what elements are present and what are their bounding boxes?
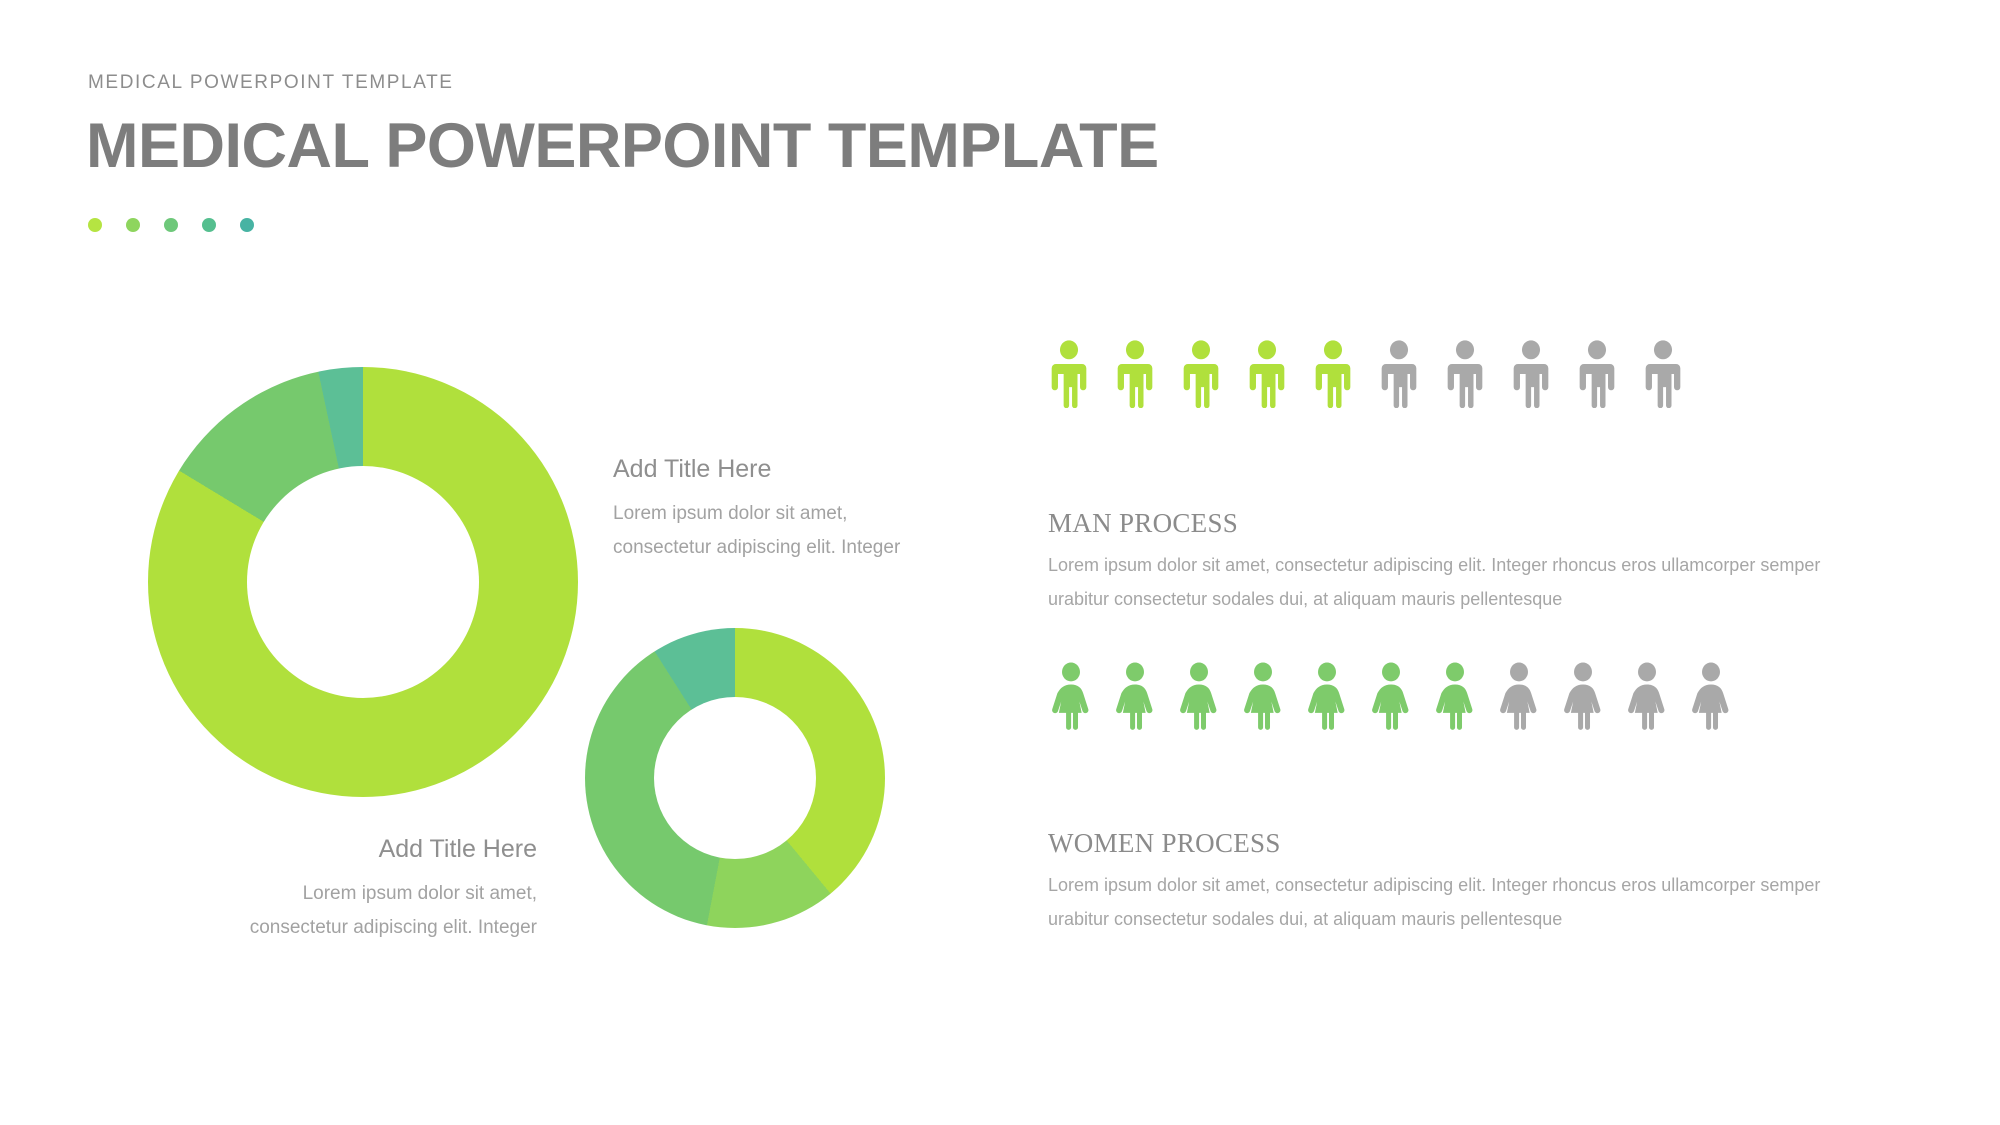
women-process-heading: WOMEN PROCESS [1048,828,1838,859]
callout-line-1: Lorem ipsum dolor sit amet, [613,497,900,531]
woman-pictogram-row [1048,662,1734,735]
slide-canvas: MEDICAL POWERPOINT TEMPLATE MEDICAL POWE… [0,0,2000,1125]
man-figure-icon [1642,340,1684,413]
man-process-section: MAN PROCESS Lorem ipsum dolor sit amet, … [1048,508,1838,616]
decorative-dot-5 [240,218,254,232]
decorative-dot-strip [88,218,254,232]
woman-figure-icon [1624,662,1670,735]
woman-figure-icon [1176,662,1222,735]
large-donut-callout: Add Title Here Lorem ipsum dolor sit ame… [613,455,900,565]
large-donut-chart [148,367,578,797]
man-figure-icon [1246,340,1288,413]
small-donut-chart [585,628,885,928]
man-figure-icon [1180,340,1222,413]
women-process-body: Lorem ipsum dolor sit amet, consectetur … [1048,868,1838,936]
man-process-body: Lorem ipsum dolor sit amet, consectetur … [1048,548,1838,616]
women-process-section: WOMEN PROCESS Lorem ipsum dolor sit amet… [1048,828,1838,936]
man-figure-icon [1444,340,1486,413]
man-figure-icon [1312,340,1354,413]
callout-line-1: Lorem ipsum dolor sit amet, [232,877,537,911]
man-pictogram-row [1048,340,1684,413]
man-figure-icon [1378,340,1420,413]
woman-figure-icon [1112,662,1158,735]
callout-title: Add Title Here [232,835,537,864]
man-process-heading: MAN PROCESS [1048,508,1838,539]
decorative-dot-2 [126,218,140,232]
man-figure-icon [1576,340,1618,413]
woman-figure-icon [1048,662,1094,735]
small-donut-hole [654,697,816,859]
man-figure-icon [1510,340,1552,413]
decorative-dot-1 [88,218,102,232]
man-figure-icon [1114,340,1156,413]
woman-figure-icon [1432,662,1478,735]
man-figure-icon [1048,340,1090,413]
woman-figure-icon [1240,662,1286,735]
woman-figure-icon [1688,662,1734,735]
callout-line-2: consectetur adipiscing elit. Integer [232,911,537,945]
large-donut-hole [247,466,479,698]
page-title: MEDICAL POWERPOINT TEMPLATE [86,110,1159,182]
callout-line-2: consectetur adipiscing elit. Integer [613,531,900,565]
woman-figure-icon [1496,662,1542,735]
small-donut-callout: Add Title Here Lorem ipsum dolor sit ame… [232,835,537,945]
decorative-dot-4 [202,218,216,232]
woman-figure-icon [1368,662,1414,735]
woman-figure-icon [1560,662,1606,735]
callout-title: Add Title Here [613,455,900,484]
decorative-dot-3 [164,218,178,232]
eyebrow-label: MEDICAL POWERPOINT TEMPLATE [88,72,454,94]
woman-figure-icon [1304,662,1350,735]
